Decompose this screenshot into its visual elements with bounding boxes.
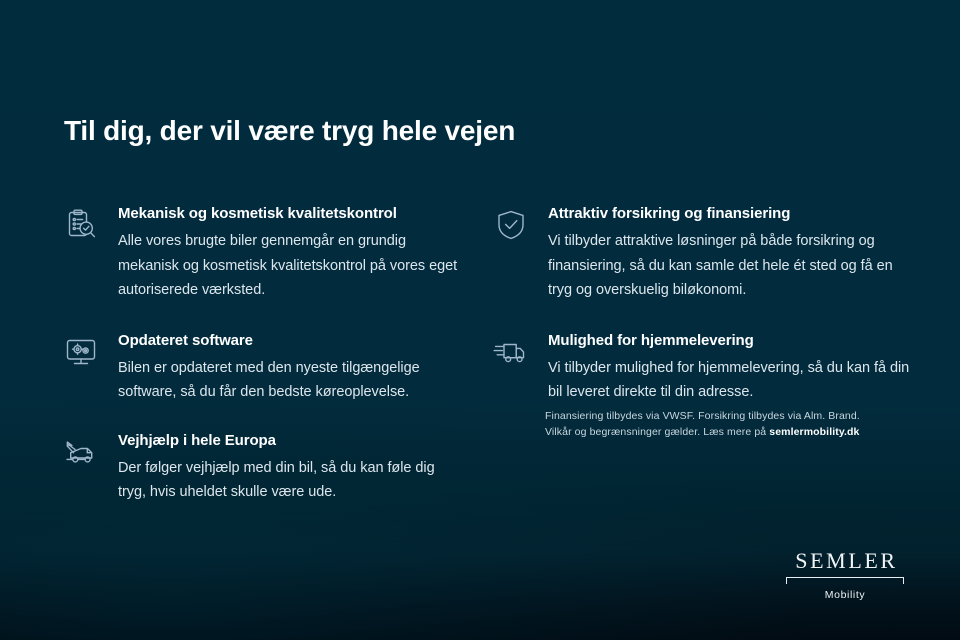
feature-title: Mulighed for hjemmelevering (548, 331, 912, 351)
feature-item-insurance-financing: Attraktiv forsikring og finansiering Vi … (492, 204, 912, 303)
page-title: Til dig, der vil være tryg hele vejen (64, 115, 515, 147)
semlermobility-link[interactable]: semlermobility.dk (769, 426, 859, 438)
slide-stage: Til dig, der vil være tryg hele vejen (0, 0, 960, 640)
feature-body: Vi tilbyder attraktive løsninger på både… (548, 229, 912, 303)
disclaimer-line-2-text: Vilkår og begrænsninger gælder. Læs mere… (545, 426, 769, 438)
semler-mobility-logo: SEMLER Mobility (786, 548, 904, 603)
logo-wordmark: SEMLER (786, 548, 904, 574)
feature-item-quality-control: Mekanisk og kosmetisk kvalitetskontrol A… (62, 204, 462, 303)
feature-column-left: Mekanisk og kosmetisk kvalitetskontrol A… (62, 204, 462, 505)
legal-disclaimer: Finansiering tilbydes via VWSF. Forsikri… (545, 408, 885, 440)
clipboard-search-icon (62, 206, 100, 244)
disclaimer-line-1: Finansiering tilbydes via VWSF. Forsikri… (545, 408, 885, 424)
logo-bracket-rule (786, 577, 904, 586)
feature-body: Vi tilbyder mulighed for hjemmelevering,… (548, 356, 912, 405)
feature-title: Opdateret software (118, 331, 462, 351)
shield-check-icon (492, 206, 530, 244)
feature-body: Bilen er opdateret med den nyeste tilgæn… (118, 356, 462, 405)
delivery-truck-icon (492, 333, 530, 371)
feature-title: Attraktiv forsikring og finansiering (548, 204, 912, 224)
feature-title: Vejhjælp i hele Europa (118, 431, 462, 451)
monitor-gears-icon (62, 333, 100, 371)
disclaimer-line-2: Vilkår og begrænsninger gælder. Læs mere… (545, 424, 885, 440)
feature-body: Der følger vejhjælp med din bil, så du k… (118, 456, 462, 505)
tow-truck-icon (62, 433, 100, 471)
feature-item-home-delivery: Mulighed for hjemmelevering Vi tilbyder … (492, 331, 912, 405)
feature-title: Mekanisk og kosmetisk kvalitetskontrol (118, 204, 462, 224)
feature-item-updated-software: Opdateret software Bilen er opdateret me… (62, 331, 462, 405)
logo-subtitle: Mobility (786, 588, 904, 603)
feature-column-right: Attraktiv forsikring og finansiering Vi … (492, 204, 912, 405)
feature-body: Alle vores brugte biler gennemgår en gru… (118, 229, 462, 303)
feature-item-roadside-assistance: Vejhjælp i hele Europa Der følger vejhjæ… (62, 431, 462, 505)
